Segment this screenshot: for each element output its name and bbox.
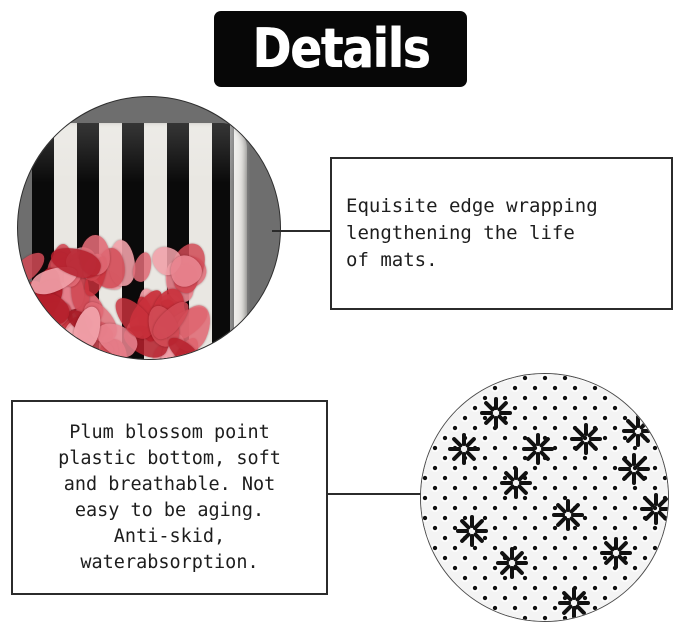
mat-image-layers [18,97,280,359]
details-header-banner: Details [214,11,467,87]
plum-blossom-motif [499,466,533,500]
anti-slip-dotted-backing-photo [420,373,669,622]
flower-petals-cluster [17,235,202,360]
plum-blossom-motif [551,498,585,532]
plum-blossom-motif [479,396,513,430]
mat-wrapped-edge [230,123,250,360]
plum-blossom-motif [447,432,481,466]
plum-blossom-motif [621,414,655,448]
striped-mat-with-flowers-photo [17,96,281,360]
flower-petal [130,250,154,283]
caption-text-plastic-bottom: Plum blossom point plastic bottom, soft … [13,420,326,576]
dotted-backing-texture [421,374,668,621]
caption-text-edge-wrapping: Equisite edge wrapping lengthening the l… [332,193,598,274]
plum-blossom-motif [521,432,555,466]
page-title: Details [252,22,429,76]
plum-blossom-motif [599,536,633,570]
caption-box-edge-wrapping: Equisite edge wrapping lengthening the l… [330,157,673,310]
plum-blossom-motif [569,422,603,456]
connector-line-edge-wrapping [272,230,332,232]
detail-infographic: Details Equisite edge wrapping lengtheni… [0,0,679,620]
plum-blossom-motif [495,546,529,580]
connector-line-plastic-bottom [327,493,423,495]
caption-box-plastic-bottom: Plum blossom point plastic bottom, soft … [11,400,328,595]
plum-blossom-motif [617,452,651,486]
plum-blossom-motif [455,514,489,548]
plum-blossom-motif [557,586,591,620]
plum-blossom-motif [639,492,669,526]
